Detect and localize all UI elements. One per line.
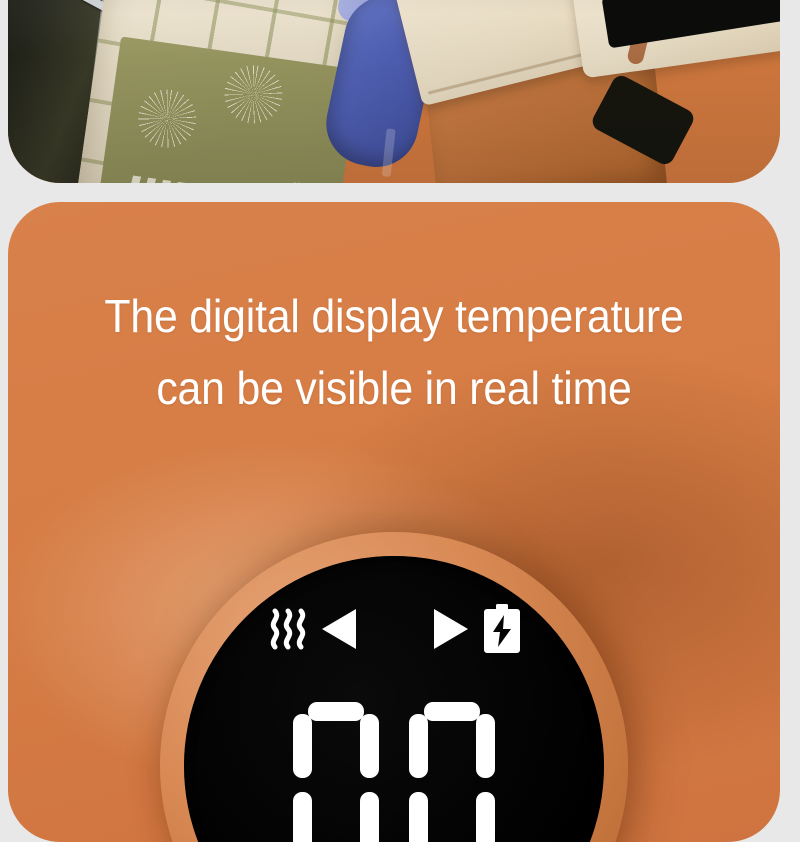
triangle-left-icon[interactable] [320, 607, 358, 651]
segment-a [308, 702, 364, 721]
display-digit-ones [409, 702, 495, 842]
segment-f [293, 714, 312, 778]
segment-f [409, 714, 428, 778]
temperature-device[interactable] [160, 532, 628, 842]
segment-b [360, 714, 379, 778]
suitcase-photo [8, 0, 780, 183]
slipper-brand-label [382, 128, 396, 177]
feature-panel: The digital display temperature can be v… [8, 202, 780, 842]
display-digit-tens [293, 702, 379, 842]
status-indicator-row [184, 604, 604, 654]
triangle-right-icon[interactable] [432, 607, 470, 651]
device-display-screen [184, 556, 604, 842]
segment-b [476, 714, 495, 778]
seven-segment-display [184, 702, 604, 842]
heat-waves-icon [268, 607, 310, 651]
battery-charging-icon [484, 604, 520, 654]
headline-line-1: The digital display temperature [35, 280, 753, 352]
product-photo-panel [8, 0, 780, 183]
segment-a [424, 702, 480, 721]
feature-headline: The digital display temperature can be v… [35, 280, 753, 424]
headline-line-2: can be visible in real time [35, 352, 753, 424]
page-root: The digital display temperature can be v… [0, 0, 800, 800]
